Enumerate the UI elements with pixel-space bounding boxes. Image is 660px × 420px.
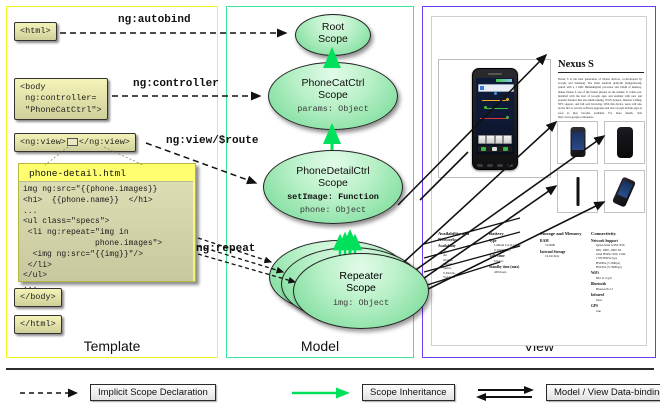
spec-value: 16.0x16Gb: [540, 254, 588, 258]
thumbnail-side[interactable]: [557, 170, 598, 213]
legend: Implicit Scope Declaration Scope Inherit…: [0, 368, 660, 420]
edge-label-autobind: ng:autobind: [118, 14, 191, 26]
code-chip-body-close: </body>: [14, 288, 62, 307]
edge-label-repeat: ng:repeat: [196, 243, 255, 255]
spec-column-3: ConnectivityNetwork SupportQuad-band GSM…: [591, 231, 642, 313]
hero-phone-image: [438, 59, 551, 178]
spec-value: 802.11 b/g/n: [591, 276, 639, 280]
view-phone-description: Nexus S is the next generation of Nexus …: [558, 77, 642, 119]
view-rendered-page: Nexus S Nexus S is the next generation o…: [431, 16, 647, 346]
code-chip-ng-view: <ng:view></ng:view>: [14, 133, 136, 152]
edge-label-controller: ng:controller: [133, 78, 219, 90]
scope-prop-setimage: setImage: Function: [264, 192, 402, 202]
panel-template-label: Template: [7, 338, 217, 354]
thumbnail-back[interactable]: [604, 121, 645, 164]
spec-column-heading: Battery: [489, 231, 537, 237]
legend-label-implicit-scope-declaration: Implicit Scope Declaration: [90, 384, 216, 401]
ng-view-close-tag: </ng:view>: [79, 137, 130, 147]
dashed-arrow-icon: [18, 385, 80, 401]
legend-label-scope-inheritance: Scope Inheritance: [362, 384, 455, 401]
scope-oval-root: RootScope: [295, 14, 371, 56]
spec-column-1: BatteryTypeLithium Ion (Li-Ion)(1500 mAH…: [489, 231, 540, 313]
spec-value: true: [591, 309, 639, 313]
legend-item-data-binding: Model / View Data-binding: [474, 384, 660, 401]
legend-item-implicit-scope-declaration: Implicit Scope Declaration: [18, 384, 216, 401]
spec-value: HSUPA (5.76Mbps): [591, 265, 639, 269]
spec-value: Bluetooth 2.1: [591, 287, 639, 291]
spec-value: Vodafone: [438, 275, 486, 279]
sticky-note-title: phone-detail.html: [19, 164, 195, 181]
scope-prop-params: params: Object: [269, 104, 397, 114]
spec-value: false: [591, 298, 639, 302]
diagram-canvas: Template Model View <html> <body ng:cont…: [0, 0, 660, 420]
spec-column-2: Storage and MemoryRAM512MBInternal Stora…: [540, 231, 591, 313]
code-chip-body-open: <body ng:controller= "PhoneCatCtrl">: [14, 78, 108, 120]
thumbnail-angle[interactable]: [604, 170, 645, 213]
scope-title-phonecatctrl: PhoneCatCtrlScope: [269, 63, 397, 101]
scope-oval-repeater: RepeaterScope img: Object: [293, 253, 429, 329]
title-underline: [558, 72, 644, 73]
code-chip-html-open: <html>: [14, 22, 57, 41]
scope-prop-phone: phone: Object: [264, 205, 402, 215]
ng-view-open-tag: <ng:view>: [20, 137, 66, 147]
spec-column-heading: Connectivity: [591, 231, 639, 237]
spec-value: 428 hours: [489, 270, 537, 274]
legend-item-scope-inheritance: Scope Inheritance: [290, 384, 455, 401]
spec-value: (1500 mAH): [489, 248, 537, 252]
spec-value: 6 hours: [489, 259, 537, 263]
spec-column-heading: Availability and Networks: [438, 231, 486, 242]
scope-prop-img: img: Object: [294, 298, 428, 308]
sticky-note-phone-detail: phone-detail.html img ng:src="{{phone.im…: [18, 163, 196, 282]
legend-label-data-binding: Model / View Data-binding: [546, 384, 660, 401]
view-spec-table: Availability and NetworksAvailability3G4…: [438, 231, 642, 313]
code-chip-html-close: </html>: [14, 315, 62, 334]
legend-divider: [6, 368, 654, 370]
view-thumbnail-grid: [557, 121, 645, 219]
scope-oval-phonecatctrl: PhoneCatCtrlScope params: Object: [268, 62, 398, 130]
scope-title-repeater: RepeaterScope: [294, 254, 428, 294]
sticky-note-code: img ng:src="{{phone.images}} <h1> {{phon…: [19, 181, 193, 281]
ng-view-placeholder-icon: [67, 138, 78, 146]
green-arrow-icon: [290, 385, 352, 401]
panel-model-label: Model: [227, 338, 413, 354]
scope-title-root: RootScope: [296, 15, 370, 45]
thumbnail-front[interactable]: [557, 121, 598, 164]
scope-title-phonedetailctrl: PhoneDetailCtrlScope: [264, 151, 402, 189]
spec-column-heading: Storage and Memory: [540, 231, 588, 237]
view-phone-title: Nexus S: [558, 59, 594, 70]
spec-value: 512MB: [540, 243, 588, 247]
double-arrow-icon: [474, 385, 536, 401]
spec-column-0: Availability and NetworksAvailability3G4…: [438, 231, 489, 313]
scope-oval-phonedetailctrl: PhoneDetailCtrlScope setImage: Function …: [263, 150, 403, 224]
phone-illustration-icon: [472, 68, 518, 170]
edge-label-view-route: ng:view/$route: [166, 135, 258, 147]
